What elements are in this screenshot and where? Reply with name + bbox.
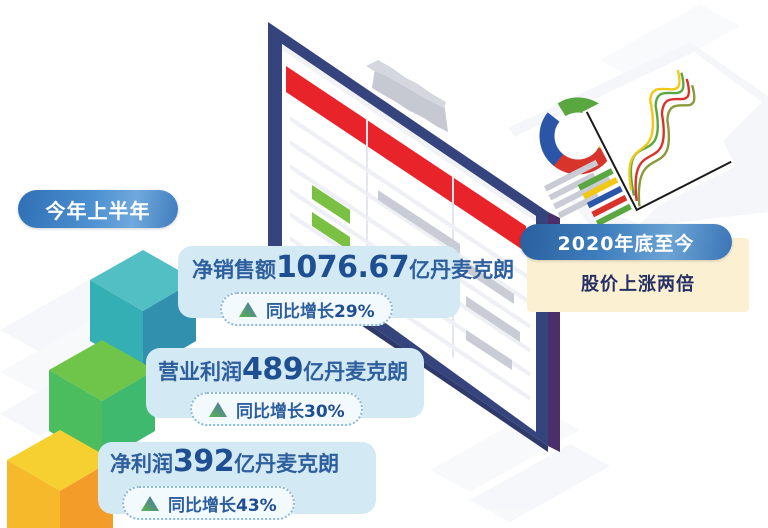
metric-prefix: 净利润 — [110, 448, 173, 478]
growth-label: 同比增长 — [266, 302, 334, 322]
badge-since-2020: 2020年底至今 — [520, 224, 732, 260]
metric-value: 392 — [173, 444, 234, 479]
metric-prefix: 净销售额 — [192, 254, 276, 284]
growth-pill-operating-profit: 同比增长30% — [190, 392, 363, 426]
growth-text-net-sales: 同比增长29% — [266, 297, 375, 322]
growth-label: 同比增长 — [168, 496, 236, 516]
growth-value: 30% — [304, 402, 345, 422]
metric-title-net-sales: 净销售额1076.67亿丹麦克朗 — [192, 250, 514, 285]
metric-value: 1076.67 — [276, 250, 409, 285]
growth-pill-net-sales: 同比增长29% — [220, 292, 393, 326]
metric-unit: 亿丹麦克朗 — [234, 448, 339, 478]
growth-value: 43% — [236, 496, 277, 516]
metric-title-operating-profit: 营业利润489亿丹麦克朗 — [158, 352, 408, 387]
growth-text-net-profit: 同比增长43% — [168, 491, 277, 516]
metric-unit: 亿丹麦克朗 — [409, 254, 514, 284]
growth-pill-net-profit: 同比增长43% — [122, 486, 295, 520]
metric-title-net-profit: 净利润392亿丹麦克朗 — [110, 444, 339, 479]
metric-unit: 亿丹麦克朗 — [303, 356, 408, 386]
badge-half-year: 今年上半年 — [18, 190, 178, 228]
growth-value: 29% — [334, 302, 375, 322]
metric-value: 489 — [242, 352, 303, 387]
up-triangle-icon — [238, 301, 258, 318]
up-triangle-icon — [208, 401, 228, 418]
infographic-canvas: 今年上半年 净销售额1076.67亿丹麦克朗 同比增长29% 营业利润489亿丹… — [0, 0, 768, 528]
report-sheet — [508, 42, 768, 232]
growth-text-operating-profit: 同比增长30% — [236, 397, 345, 422]
stock-highlight-text: 股价上涨两倍 — [527, 270, 749, 296]
up-triangle-icon — [140, 495, 160, 512]
metric-prefix: 营业利润 — [158, 356, 242, 386]
growth-label: 同比增长 — [236, 402, 304, 422]
